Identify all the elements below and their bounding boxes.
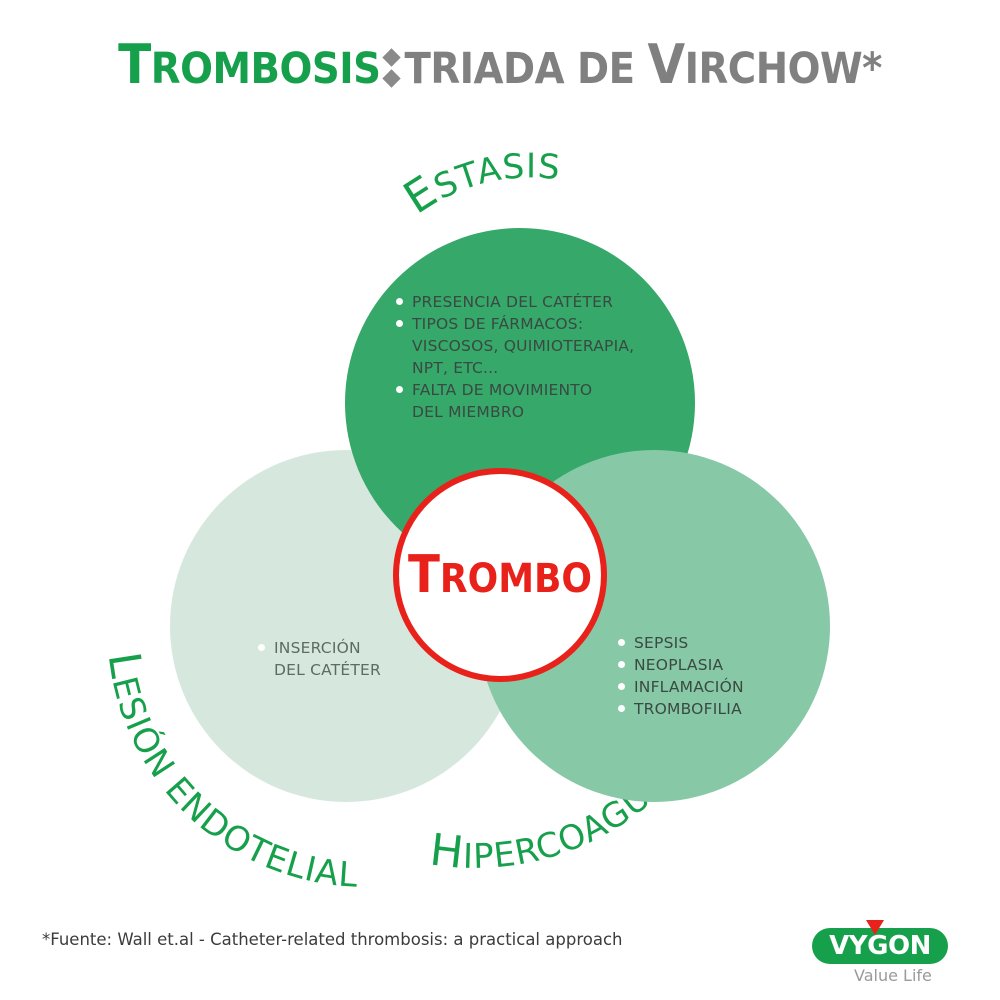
logo-triangle-icon <box>866 920 884 935</box>
lesion-bullet-list: INSERCIÓN DEL CATÉTER <box>258 637 381 681</box>
list-item: NEOPLASIA <box>618 654 744 676</box>
arc-lesion-cap: L <box>98 649 152 682</box>
arc-label-estasis: ESTASIS <box>395 146 562 224</box>
vygon-logo[interactable]: VYGON Value Life <box>812 918 962 982</box>
list-item: DEL CATÉTER <box>258 659 381 681</box>
trombo-label: TROMBO <box>408 545 592 605</box>
list-item: DEL MIEMBRO <box>396 401 634 423</box>
list-item: INSERCIÓN <box>258 637 381 659</box>
list-item: TROMBOFILIA <box>618 698 744 720</box>
page-title: TROMBOSISTRIADA DE VIRCHOW* <box>0 38 1000 92</box>
title-trombosis-cap: T <box>118 33 151 96</box>
list-item: INFLAMACIÓN <box>618 676 744 698</box>
trombo-label-cap: T <box>408 545 440 605</box>
title-virchow-rest: IRCHOW* <box>685 44 882 94</box>
venn-center-trombo[interactable]: TROMBO <box>393 468 607 682</box>
list-item: FALTA DE MOVIMIENTO <box>396 379 634 401</box>
list-item: NPT, ETC... <box>396 357 634 379</box>
logo-wordmark: VYGON <box>829 933 931 959</box>
venn-diagram: ESTASIS LESIÓN ENDOTELIAL HIPERCOAGULABI… <box>0 150 1000 910</box>
source-footnote: *Fuente: Wall et.al - Catheter-related t… <box>42 930 622 949</box>
trombo-label-rest: ROMBO <box>440 556 592 602</box>
list-item: VISCOSOS, QUIMIOTERAPIA, <box>396 335 634 357</box>
title-colon-icon <box>380 45 404 89</box>
arc-hiper-cap: H <box>427 825 467 880</box>
infographic-root: TROMBOSISTRIADA DE VIRCHOW* ESTASIS LESI… <box>0 0 1000 1000</box>
estasis-bullet-list: PRESENCIA DEL CATÉTER TIPOS DE FÁRMACOS:… <box>396 291 634 423</box>
list-item: SEPSIS <box>618 632 744 654</box>
arc-estasis-rest: STASIS <box>428 146 562 208</box>
logo-tagline: Value Life <box>854 966 932 985</box>
title-triada-de: TRIADA DE <box>404 44 647 94</box>
list-item: PRESENCIA DEL CATÉTER <box>396 291 634 313</box>
list-item: TIPOS DE FÁRMACOS: <box>396 313 634 335</box>
title-virchow-cap: V <box>648 33 685 96</box>
hipercoagulabilidad-bullet-list: SEPSIS NEOPLASIA INFLAMACIÓN TROMBOFILIA <box>618 632 744 720</box>
title-trombosis-rest: ROMBOSIS <box>151 44 381 94</box>
